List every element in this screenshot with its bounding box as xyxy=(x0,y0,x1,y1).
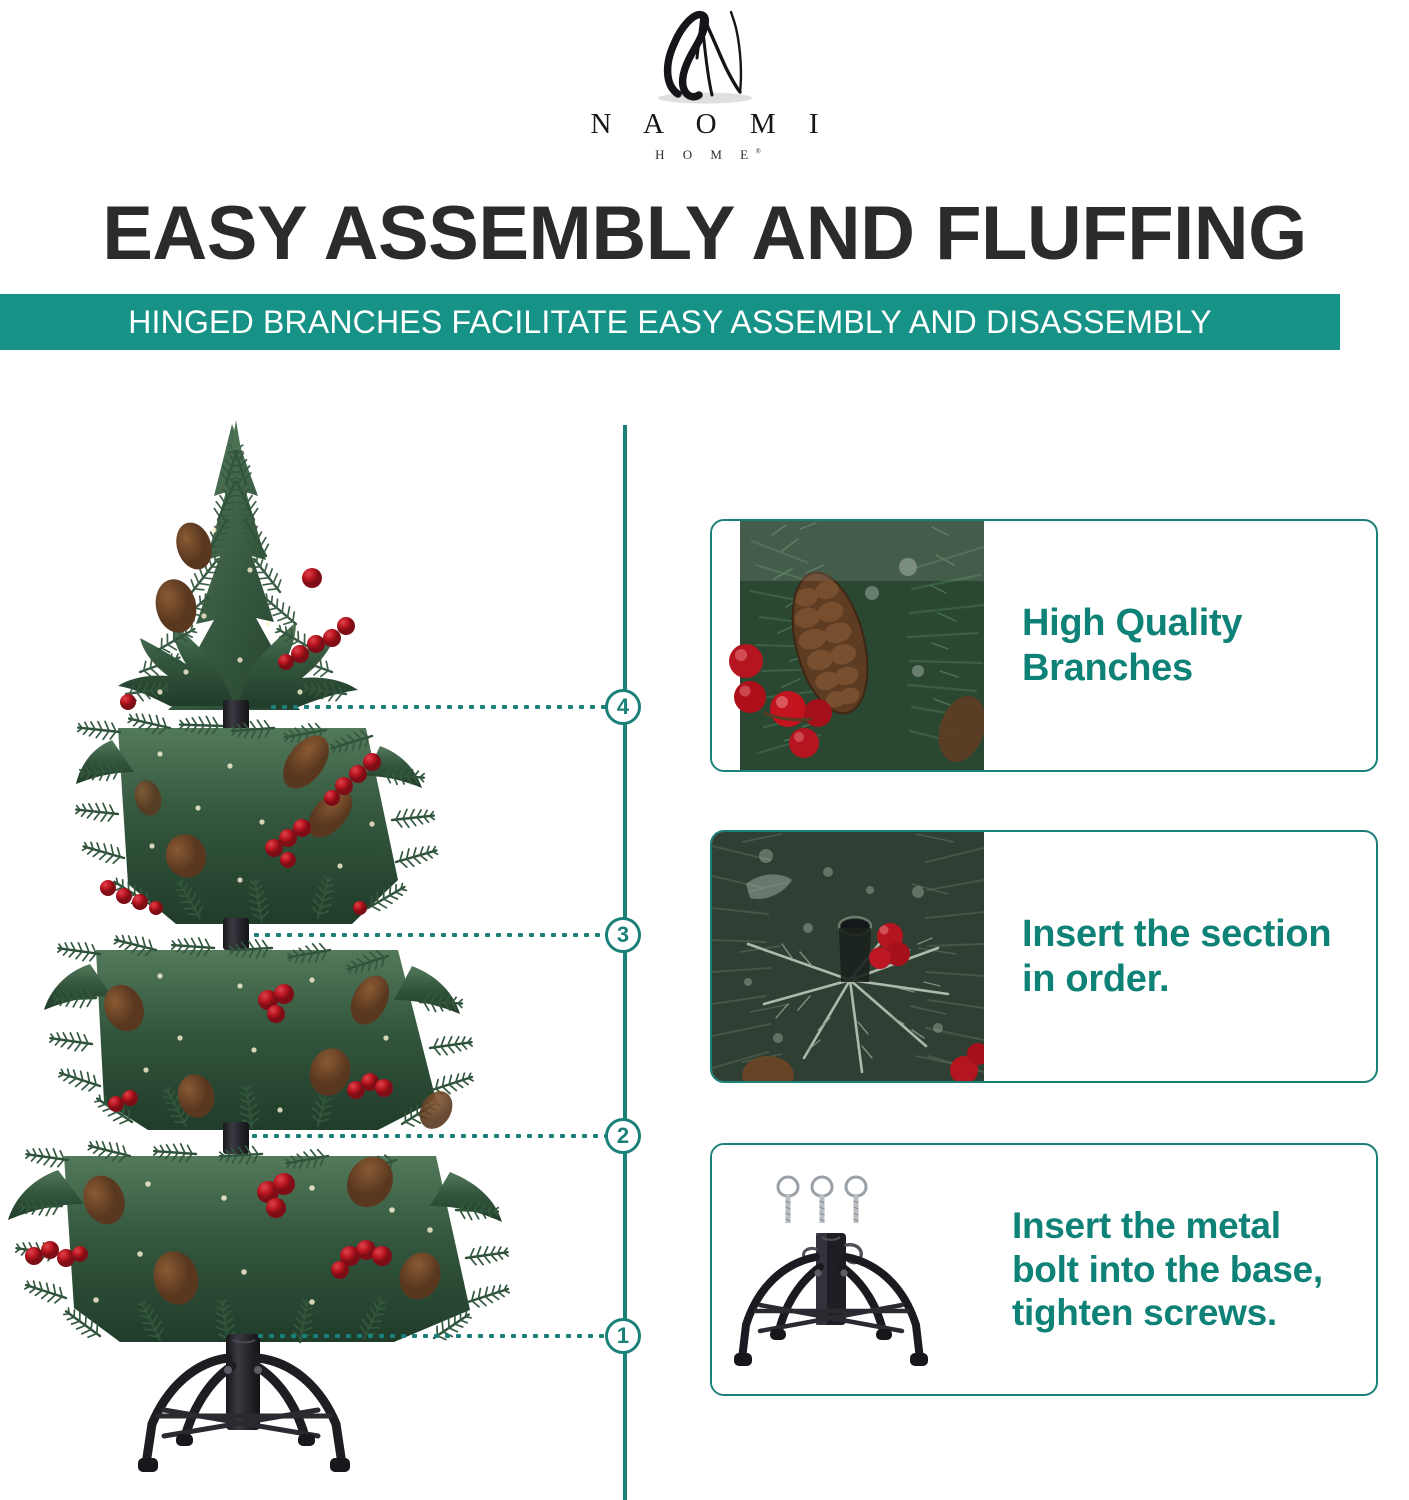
leader-line-1 xyxy=(255,1334,623,1338)
branch-closeup-image xyxy=(712,521,984,770)
tree-section-upper-middle xyxy=(75,710,439,950)
card-photo-branch-hub xyxy=(712,832,984,1081)
subtitle-bar: HINGED BRANCHES FACILITATE EASY ASSEMBLY… xyxy=(0,294,1340,350)
tree-section-top xyxy=(118,420,358,738)
tree-stand xyxy=(138,1334,350,1472)
pole-socket xyxy=(839,917,871,982)
card-title-line2: in order. xyxy=(1022,957,1331,1002)
brand-sub-text: H O M E xyxy=(655,147,756,162)
card-title-line2: Branches xyxy=(1022,646,1242,691)
card-body-insert-section: Insert the section in order. xyxy=(984,832,1376,1081)
card-title-line3: tighten screws. xyxy=(1012,1291,1323,1335)
card-title-branches: High Quality Branches xyxy=(1022,601,1242,691)
feature-card-metal-bolt[interactable]: Insert the metal bolt into the base, tig… xyxy=(710,1143,1378,1396)
feature-card-branches[interactable]: High Quality Branches xyxy=(710,519,1378,772)
leader-line-3 xyxy=(251,933,623,937)
tree-section-bottom xyxy=(8,1137,511,1345)
card-body-branches: High Quality Branches xyxy=(984,521,1376,770)
tree-section-lower-middle xyxy=(44,931,475,1154)
registered-mark: ® xyxy=(756,148,761,156)
card-photo-tree-stand xyxy=(712,1145,990,1394)
pole-stub xyxy=(223,1122,249,1154)
page-headline: EASY ASSEMBLY AND FLUFFING xyxy=(0,196,1409,272)
timeline-marker-3[interactable]: 3 xyxy=(605,917,641,953)
subtitle-text: HINGED BRANCHES FACILITATE EASY ASSEMBLY… xyxy=(128,304,1212,341)
leader-line-2 xyxy=(249,1134,623,1138)
card-title-line2: bolt into the base, xyxy=(1012,1248,1323,1292)
card-title-line1: Insert the section xyxy=(1022,912,1331,957)
brand-logo: N A O M I H O M E® xyxy=(0,6,1409,161)
feature-card-insert-section[interactable]: Insert the section in order. xyxy=(710,830,1378,1083)
leader-line-4 xyxy=(268,705,623,709)
brand-name: N A O M I xyxy=(577,110,831,139)
brand-sub: H O M E® xyxy=(648,148,761,161)
timeline-marker-4[interactable]: 4 xyxy=(605,689,641,725)
tree-stand-illustration xyxy=(712,1145,990,1394)
naomi-script-n-monogram-icon xyxy=(640,6,770,108)
branch-hub-image xyxy=(712,832,984,1081)
card-title-line1: High Quality xyxy=(1022,601,1242,646)
card-body-metal-bolt: Insert the metal bolt into the base, tig… xyxy=(990,1145,1376,1394)
card-title-metal-bolt: Insert the metal bolt into the base, tig… xyxy=(1012,1204,1323,1335)
card-title-insert-section: Insert the section in order. xyxy=(1022,912,1331,1002)
timeline-marker-2[interactable]: 2 xyxy=(605,1118,641,1154)
card-photo-branches xyxy=(712,521,984,770)
card-title-line1: Insert the metal xyxy=(1012,1204,1323,1248)
timeline-marker-1[interactable]: 1 xyxy=(605,1318,641,1354)
